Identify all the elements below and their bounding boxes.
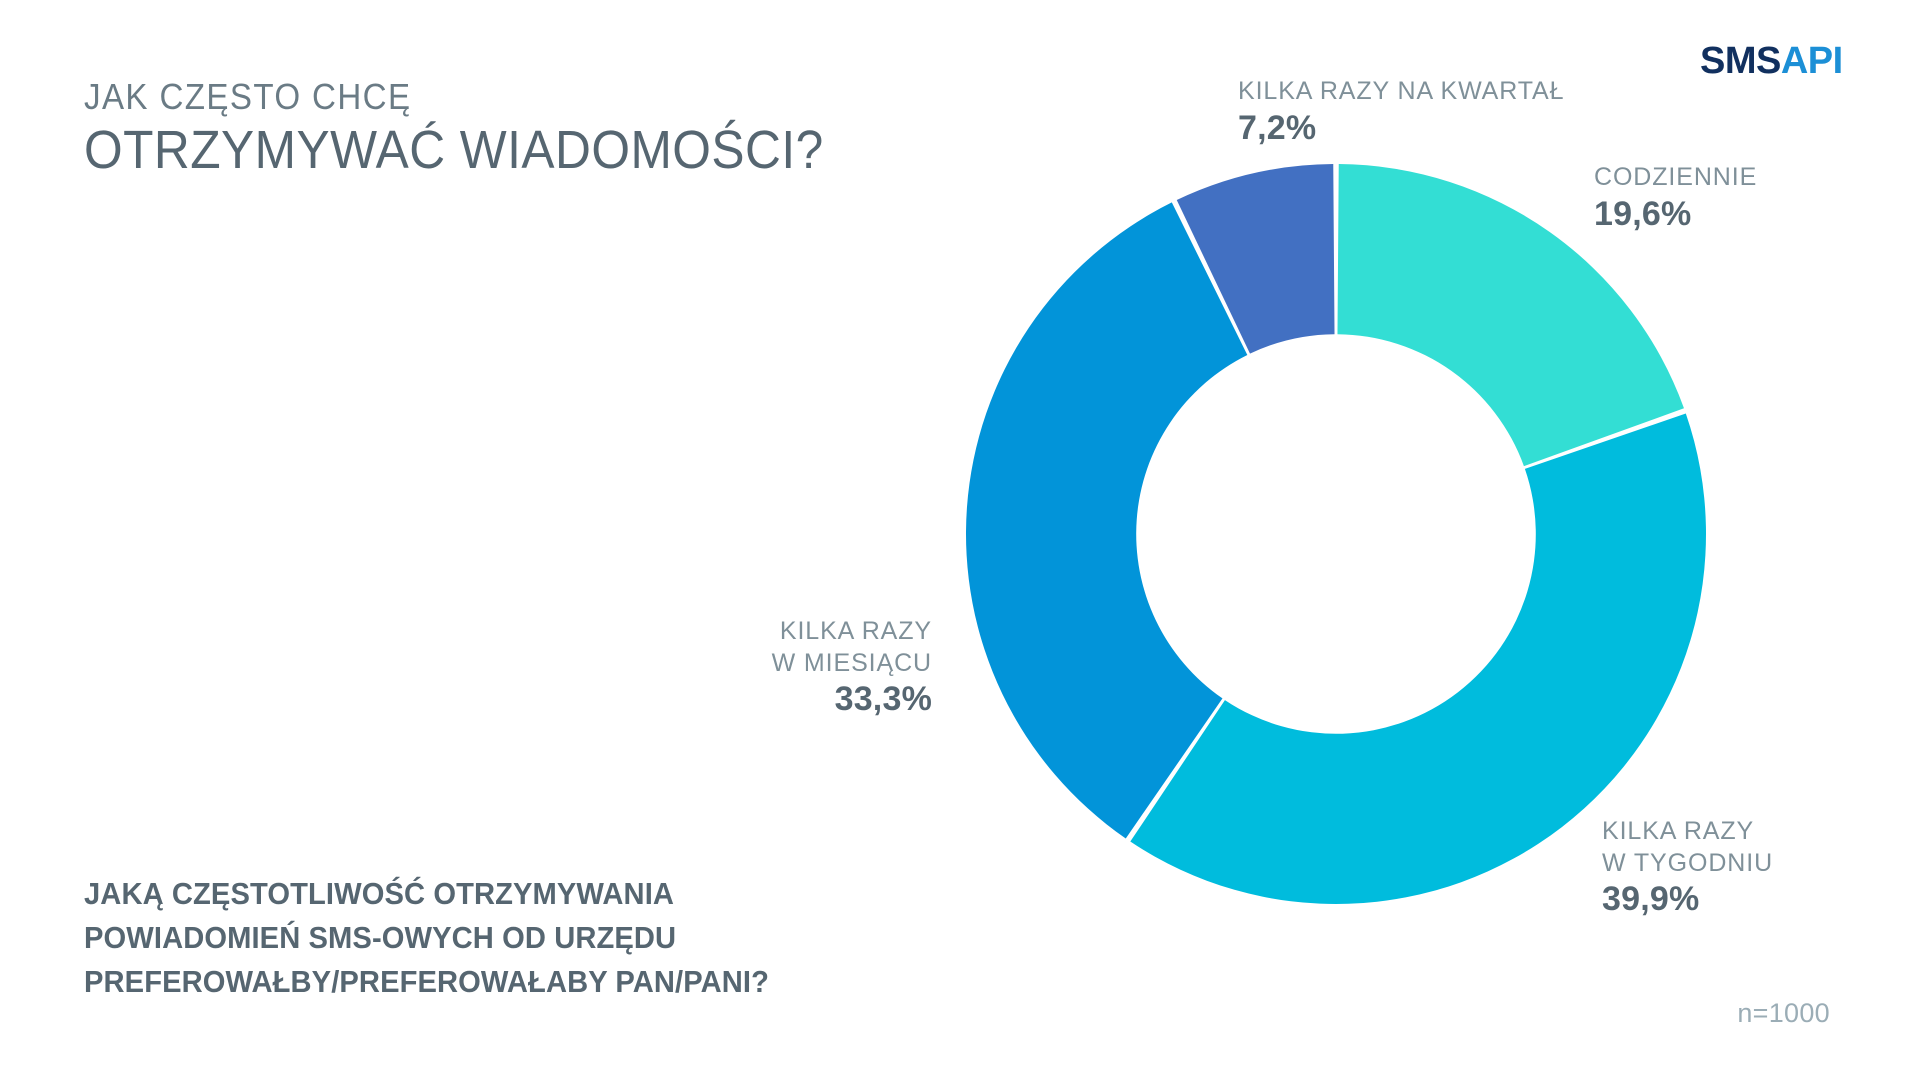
chart-label-value: 33,3% [600,680,932,719]
chart-label-codziennie: CODZIENNIE 19,6% [1594,162,1757,234]
survey-question: JAKĄ CZĘSTOTLIWOŚĆ OTRZYMYWANIA POWIADOM… [84,872,855,1004]
chart-label-kilka-razy-w-miesiacu: KILKA RAZY W MIESIĄCU 33,3% [600,616,932,719]
page-title: JAK CZĘSTO CHCĘ OTRZYMYWAĆ WIADOMOŚCI? [84,78,984,180]
donut-chart-svg [962,160,1710,908]
logo-text-api: API [1781,40,1843,82]
chart-label-kilka-razy-w-tygodniu: KILKA RAZY W TYGODNIU 39,9% [1602,816,1773,919]
sample-size-note: n=1000 [1630,998,1830,1029]
chart-label-category-line2: W MIESIĄCU [600,648,932,680]
chart-label-category-line1: KILKA RAZY [600,616,932,648]
donut-slice-group [966,164,1706,904]
logo-text-sms: SMS [1700,40,1781,82]
survey-question-line-3: PREFEROWAŁBY/PREFEROWAŁABY PAN/PANI? [84,960,855,1004]
chart-label-category: KILKA RAZY NA KWARTAŁ [1238,76,1564,108]
survey-question-line-1: JAKĄ CZĘSTOTLIWOŚĆ OTRZYMYWANIA [84,872,855,916]
chart-label-value: 7,2% [1238,109,1564,148]
page-title-kicker: JAK CZĘSTO CHCĘ [84,78,912,116]
smsapi-logo: SMSAPI [1700,42,1843,80]
chart-label-category-line1: KILKA RAZY [1602,816,1773,848]
chart-label-category: CODZIENNIE [1594,162,1757,194]
page-title-main: OTRZYMYWAĆ WIADOMOŚCI? [84,120,912,180]
chart-label-kilka-razy-na-kwartal: KILKA RAZY NA KWARTAŁ 7,2% [1238,76,1564,148]
chart-label-value: 19,6% [1594,195,1757,234]
donut-chart [962,160,1710,908]
chart-label-value: 39,9% [1602,880,1773,919]
survey-question-line-2: POWIADOMIEŃ SMS-OWYCH OD URZĘDU [84,916,855,960]
chart-label-category-line2: W TYGODNIU [1602,848,1773,880]
